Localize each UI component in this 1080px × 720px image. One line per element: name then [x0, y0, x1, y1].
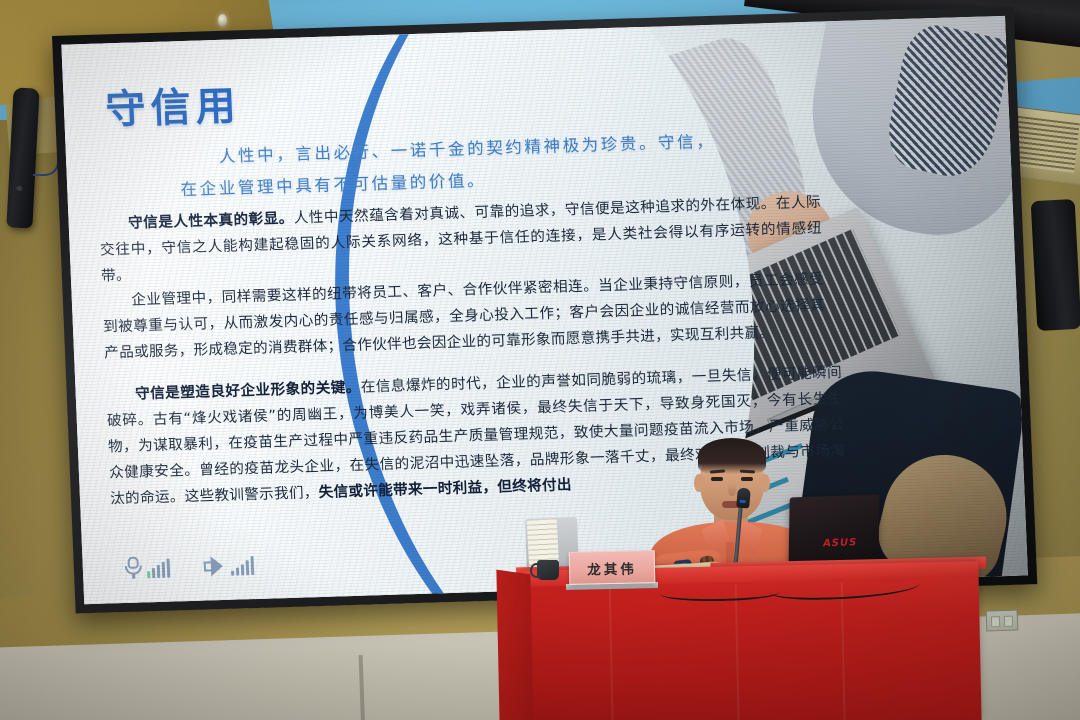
presenter-eye-left: [711, 477, 723, 481]
presenter-hair: [698, 438, 766, 474]
speaker-level-bars: [231, 556, 255, 577]
presenter-ear-left: [694, 474, 704, 492]
microphone-level-group: [125, 556, 171, 579]
paragraph-1-lead: 守信是人性本真的彰显。: [128, 210, 294, 232]
nameplate: 龙其伟: [569, 550, 656, 585]
microphone-head: [736, 487, 751, 508]
wall-switch-plate[interactable]: [986, 609, 1019, 631]
paragraph-3-tail-bold: 失信或许能带来一时利益，但终将付出: [318, 476, 572, 501]
microphone-level-bars: [147, 558, 171, 579]
downlight-icon: [218, 14, 227, 27]
slide-text-layer: 守信用 人性中，言出必行、一诺千金的契约精神极为珍贵。守信，在企业管理中具有不可…: [61, 16, 1028, 604]
slide-status-icons: [125, 554, 255, 580]
conference-room-photo: 守信用 人性中，言出必行、一诺千金的契约精神极为珍贵。守信，在企业管理中具有不可…: [0, 0, 1080, 720]
switch-rocker-right[interactable]: [1004, 616, 1013, 627]
laptop-brand-logo: ASUS: [822, 537, 858, 549]
speaker-cable: [33, 140, 59, 176]
speaker-level-group: [204, 556, 255, 578]
speaker-icon: [204, 556, 227, 577]
wall-speaker-right: [1031, 199, 1080, 331]
paragraph-3-lead: 守信是塑造良好企业形象的关键。: [135, 379, 361, 403]
microphone-icon: [125, 557, 143, 580]
dark-mug: [537, 560, 559, 580]
tablecloth-left-drape: [496, 570, 533, 720]
presenter-eye-right: [741, 477, 753, 481]
slide-canvas: 守信用 人性中，言出必行、一诺千金的契约精神极为珍贵。守信，在企业管理中具有不可…: [61, 16, 1028, 604]
slide-title: 守信用: [104, 73, 241, 135]
speaker-logo-icon: [16, 186, 22, 191]
presenter-ear-right: [760, 474, 770, 492]
presenter-nose: [728, 483, 736, 496]
nameplate-text: 龙其伟: [587, 557, 637, 578]
switch-rocker-left[interactable]: [991, 616, 1000, 627]
